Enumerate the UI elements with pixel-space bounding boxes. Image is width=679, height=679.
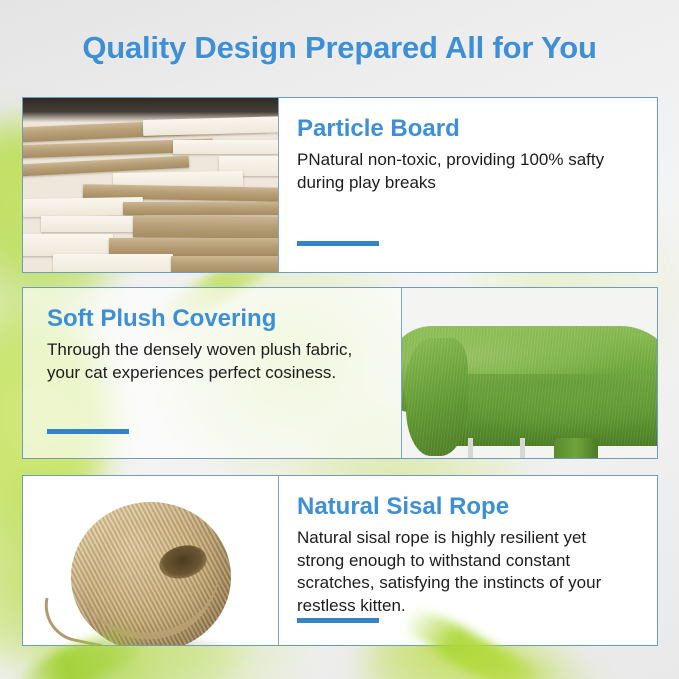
sisal-rope-image bbox=[23, 476, 279, 645]
plush-leg bbox=[468, 438, 473, 458]
particle-board-illustration bbox=[23, 98, 278, 272]
card-heading: Soft Plush Covering bbox=[47, 306, 381, 333]
feature-page: Quality Design Prepared All for You bbox=[0, 0, 679, 679]
sisal-rope-text: Natural Sisal Rope Natural sisal rope is… bbox=[279, 476, 657, 645]
accent-underline bbox=[297, 618, 379, 623]
accent-underline bbox=[297, 241, 379, 246]
plush-arm bbox=[406, 338, 468, 456]
feature-card-soft-plush-covering: Soft Plush Covering Through the densely … bbox=[22, 287, 658, 459]
page-title: Quality Design Prepared All for You bbox=[0, 30, 679, 66]
particle-board-text: Particle Board PNatural non-toxic, provi… bbox=[279, 98, 657, 272]
feature-card-particle-board: Particle Board PNatural non-toxic, provi… bbox=[22, 97, 658, 273]
accent-underline bbox=[47, 429, 129, 434]
particle-board-image bbox=[23, 98, 279, 272]
card-heading: Particle Board bbox=[297, 116, 637, 143]
card-body: Through the densely woven plush fabric, … bbox=[47, 339, 367, 385]
feature-card-natural-sisal-rope: Natural Sisal Rope Natural sisal rope is… bbox=[22, 475, 658, 646]
card-body: PNatural non-toxic, providing 100% safty… bbox=[297, 149, 632, 195]
sisal-ball-illustration bbox=[23, 476, 278, 645]
card-body: Natural sisal rope is highly resilient y… bbox=[297, 527, 637, 618]
plush-bed-illustration bbox=[402, 288, 657, 458]
plush-covering-image bbox=[401, 288, 657, 458]
plush-post bbox=[554, 438, 598, 458]
plush-covering-text: Soft Plush Covering Through the densely … bbox=[23, 288, 401, 458]
card-heading: Natural Sisal Rope bbox=[297, 494, 637, 521]
plush-leg bbox=[520, 438, 525, 458]
